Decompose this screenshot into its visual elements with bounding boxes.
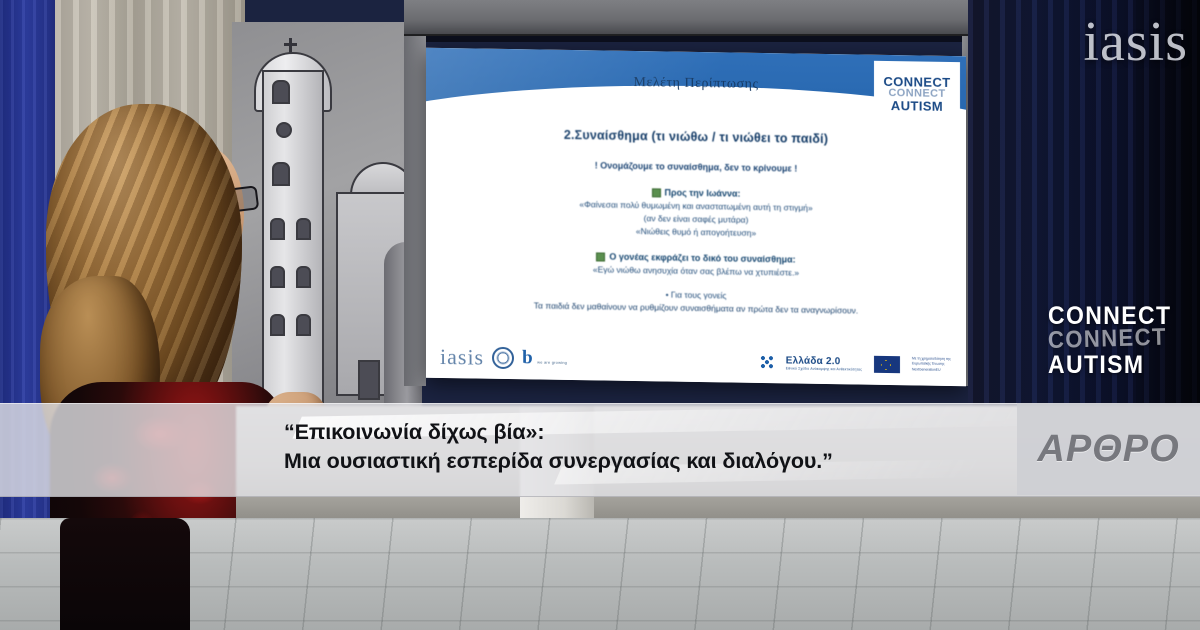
screenshot-root: Μελέτη Περίπτωσης CONNECT CONNECT AUTISM… (0, 0, 1200, 630)
slide-body: 2.Συναίσθημα (τι νιώθω / τι νιώθει το πα… (426, 122, 966, 318)
slide-footer-right: Ελλάδα 2.0 Εθνικό Σχέδιο Ανάκαμψης και Α… (760, 354, 956, 374)
slide-block: Προς την Ιωάννα: «Φαίνεσαι πολύ θυμωμένη… (426, 184, 966, 242)
connect-autism-banner: CONNECT CONNECT AUTISM (1048, 300, 1182, 395)
screen-frame-left (404, 36, 426, 386)
slide-connect-autism-logo: CONNECT CONNECT AUTISM (874, 61, 960, 126)
slide-heading: 2.Συναίσθημα (τι νιώθω / τι νιώθει το πα… (426, 126, 966, 148)
article-badge: ΑΡΘΡΟ (1017, 403, 1200, 495)
slide-block: Ο γονέας εκφράζει το δικό του συναίσθημα… (426, 249, 966, 281)
eu-flag-icon (874, 355, 900, 372)
slide-bullet-label: Ο γονέας εκφράζει το δικό του συναίσθημα… (609, 252, 795, 265)
ministry-seal-icon (492, 347, 514, 369)
slide-footer-logos: iasis b we are growing Ελλάδα 2.0 Εθνικό… (426, 336, 966, 386)
slide-logo-line2: AUTISM (891, 99, 943, 113)
slide-note: ! Ονομάζουμε το συναίσθημα, δεν το κρίνο… (426, 158, 966, 176)
slide-bullet-label: Προς την Ιωάννα: (665, 188, 741, 199)
speaker-lower-body (60, 518, 190, 630)
iasis-logo: iasis (440, 344, 484, 371)
b-logo: b (522, 347, 533, 368)
connect-banner-line3: AUTISM (1048, 349, 1171, 381)
eu-funding-text: Με τη χρηματοδότηση της Ευρωπαϊκής Ένωση… (912, 357, 956, 373)
slide-closing-bullet-label: Για τους γονείς (671, 290, 727, 301)
projector-screen-housing (404, 0, 1004, 36)
housing-shadow (404, 34, 1004, 42)
slide-footer-left: iasis b we are growing (440, 344, 567, 372)
checkbox-icon (596, 253, 605, 262)
projection-screen: Μελέτη Περίπτωσης CONNECT CONNECT AUTISM… (426, 48, 966, 386)
ellada-2-logo: Ελλάδα 2.0 Εθνικό Σχέδιο Ανάκαμψης και Α… (786, 355, 862, 371)
article-badge-label: ΑΡΘΡΟ (1037, 428, 1179, 471)
dots-logo-icon (760, 355, 774, 369)
iasis-watermark: iasis (1083, 14, 1188, 70)
background-photo: Μελέτη Περίπτωσης CONNECT CONNECT AUTISM… (0, 0, 1200, 630)
caption-text: “Επικοινωνία δίχως βία»: Μια ουσιαστική … (284, 418, 833, 475)
ellada-label: Ελλάδα 2.0 (786, 355, 841, 367)
checkbox-icon (652, 188, 661, 197)
ellada-sublabel: Εθνικό Σχέδιο Ανάκαμψης και Ανθεκτικότητ… (786, 366, 862, 371)
b-logo-wrap: b we are growing (522, 347, 567, 370)
mural-door (358, 360, 380, 400)
b-logo-subtitle: we are growing (537, 360, 567, 365)
slide-logo-line-mid: CONNECT (888, 88, 945, 100)
